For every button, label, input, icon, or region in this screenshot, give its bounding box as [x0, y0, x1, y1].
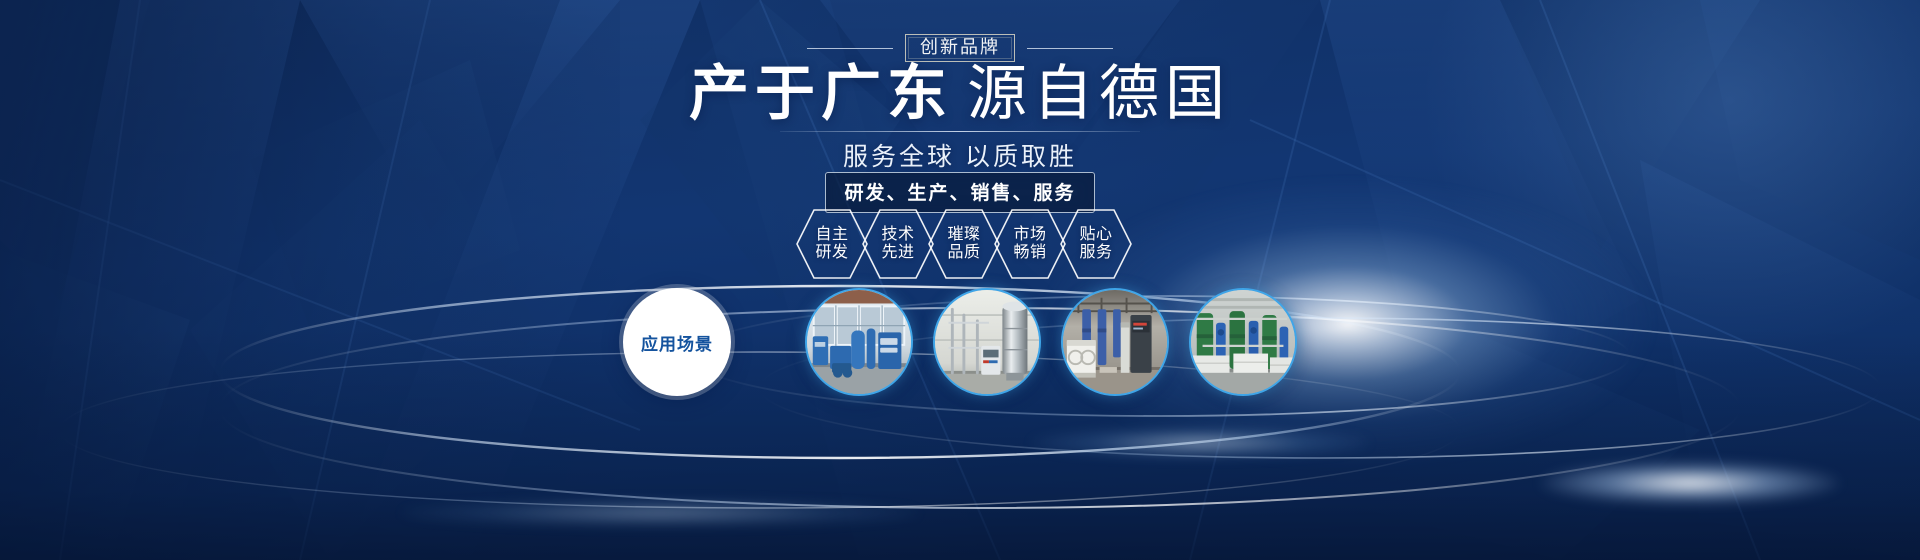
headline-secondary: 源自德国	[967, 60, 1231, 127]
badge-rule-right	[1027, 48, 1113, 49]
hexagon-label: 贴心 服务	[1079, 226, 1112, 262]
hexagon-self-rd[interactable]: 自主 研发	[795, 208, 869, 280]
hexagon-label: 市场 畅销	[1013, 226, 1046, 262]
hero-banner: 创新品牌 产于广东源自德国 服务全球 以质取胜 研发、生产、销售、服务 自主 研…	[0, 0, 1920, 560]
badge-label: 创新品牌	[920, 38, 1000, 56]
scenes-label-text: 应用场景	[641, 330, 713, 355]
badge-rule-left	[807, 48, 893, 49]
badge-box: 创新品牌	[905, 34, 1015, 62]
headline: 产于广东源自德国	[0, 62, 1920, 127]
scene-photo-gas-storage-tank-plant[interactable]	[933, 288, 1041, 396]
hexagon-market[interactable]: 市场 畅销	[993, 208, 1067, 280]
hexagon-advanced-tech[interactable]: 技术 先进	[861, 208, 935, 280]
headline-divider	[780, 131, 1140, 132]
headline-primary: 产于广东	[689, 60, 953, 127]
brand-badge: 创新品牌	[0, 34, 1920, 62]
hexagon-label: 自主 研发	[815, 226, 848, 262]
scenes-label-circle[interactable]: 应用场景	[623, 288, 731, 396]
hexagon-quality[interactable]: 璀璨 品质	[927, 208, 1001, 280]
scene-photo-water-treatment-skids[interactable]	[1189, 288, 1297, 396]
application-scenes-row: 应用场景	[0, 288, 1920, 396]
scene-photo-air-compressor-factory[interactable]	[1061, 288, 1169, 396]
hexagon-service[interactable]: 贴心 服务	[1059, 208, 1133, 280]
feature-hexagon-row: 自主 研发 技术 先进 璀璨 品质 市场 畅销 贴心 服务	[0, 208, 1920, 280]
hexagon-label: 技术 先进	[881, 226, 914, 262]
scene-photo-nitrogen-generator-workshop[interactable]	[805, 288, 913, 396]
subheadline: 服务全球 以质取胜	[0, 137, 1920, 173]
row-spacer	[751, 342, 785, 343]
services-tagline: 研发、生产、销售、服务	[825, 172, 1094, 213]
hexagon-label: 璀璨 品质	[947, 226, 980, 262]
